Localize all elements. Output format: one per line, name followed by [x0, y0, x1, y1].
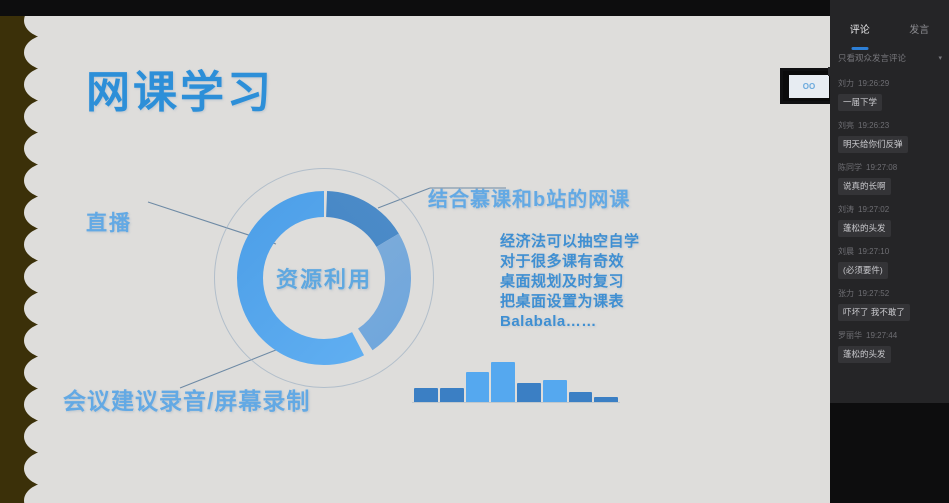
comment-user: 刘力 — [838, 79, 854, 88]
comment-user: 陈同学 — [838, 163, 862, 172]
bar-1 — [414, 388, 438, 402]
panel-tabs: 评论 发言 — [830, 18, 949, 44]
bar-3 — [466, 372, 490, 402]
comment-item[interactable]: 刘力19:26:29一届下学 — [838, 78, 944, 111]
bar-chart — [414, 356, 618, 402]
bar-5 — [517, 383, 541, 402]
comment-text: 蓬松的头发 — [838, 346, 891, 363]
slide-stage[interactable]: 网课学习 — [0, 16, 830, 503]
comment-user: 刘晨 — [838, 247, 854, 256]
comment-text: 吓坏了 我不敢了 — [838, 304, 910, 321]
panel-filter-label: 只看观众发言评论 — [838, 52, 906, 64]
comment-meta: 刘亮19:26:23 — [838, 120, 944, 131]
body-line-3: 桌面规划及时复习 — [500, 272, 640, 292]
comment-time: 19:27:44 — [866, 331, 897, 340]
bar-chart-axis — [412, 402, 620, 403]
comment-meta: 陈同学19:27:08 — [838, 162, 944, 173]
comment-item[interactable]: 张力19:27:52吓坏了 我不敢了 — [838, 288, 944, 321]
comment-meta: 刘力19:26:29 — [838, 78, 944, 89]
label-record: 会议建议录音/屏幕录制 — [63, 382, 310, 416]
comment-item[interactable]: 罗丽华19:27:44蓬松的头发 — [838, 330, 944, 363]
panel-filter[interactable]: 只看观众发言评论 ▾ — [838, 52, 942, 64]
body-line-4: 把桌面设置为课表 — [500, 292, 640, 312]
body-line-2: 对于很多课有奇效 — [500, 252, 640, 272]
bar-7 — [569, 392, 593, 402]
top-black-bar — [0, 0, 949, 16]
screen-root: 网课学习 — [0, 0, 949, 503]
label-mooc: 结合慕课和b站的网课 — [428, 183, 630, 212]
bar-2 — [440, 388, 464, 402]
tab-comments[interactable]: 评论 — [830, 18, 890, 44]
comment-list[interactable]: 刘力19:26:29一届下学刘亮19:26:23明天给你们反弹陈同学19:27:… — [838, 78, 944, 396]
comment-time: 19:26:23 — [858, 121, 889, 130]
video-thumbnail-image: OO — [789, 75, 829, 98]
slide-title: 网课学习 — [86, 56, 274, 120]
comment-time: 19:27:52 — [858, 289, 889, 298]
slide-scalloped-edge — [24, 16, 84, 503]
comment-time: 19:27:08 — [866, 163, 897, 172]
bar-4 — [491, 362, 515, 402]
comment-text: 蓬松的头发 — [838, 220, 891, 237]
comment-time: 19:27:10 — [858, 247, 889, 256]
comment-meta: 刘涛19:27:02 — [838, 204, 944, 215]
comment-meta: 罗丽华19:27:44 — [838, 330, 944, 341]
comment-user: 张力 — [838, 289, 854, 298]
comment-item[interactable]: 刘亮19:26:23明天给你们反弹 — [838, 120, 944, 153]
comment-user: 刘涛 — [838, 205, 854, 214]
body-line-1: 经济法可以抽空自学 — [500, 232, 640, 252]
tab-speak[interactable]: 发言 — [890, 18, 949, 44]
body-line-5: Balabala…… — [500, 312, 640, 332]
comment-item[interactable]: 刘晨19:27:10(必须要件) — [838, 246, 944, 279]
comment-item[interactable]: 刘涛19:27:02蓬松的头发 — [838, 204, 944, 237]
comment-user: 罗丽华 — [838, 331, 862, 340]
label-live: 直播 — [86, 207, 132, 237]
comment-meta: 刘晨19:27:10 — [838, 246, 944, 257]
comment-user: 刘亮 — [838, 121, 854, 130]
comment-time: 19:27:02 — [858, 205, 889, 214]
comment-text: 一届下学 — [838, 94, 882, 111]
donut-chart: 资源利用 — [228, 182, 420, 374]
chevron-down-icon: ▾ — [938, 54, 942, 62]
comment-time: 19:26:29 — [858, 79, 889, 88]
comment-text: 明天给你们反弹 — [838, 136, 908, 153]
donut-center-label: 资源利用 — [228, 182, 420, 374]
comment-text: (必须要件) — [838, 262, 888, 279]
bar-6 — [543, 380, 567, 402]
bar-8 — [594, 397, 618, 402]
comment-text: 说真的长啊 — [838, 178, 891, 195]
comment-item[interactable]: 陈同学19:27:08说真的长啊 — [838, 162, 944, 195]
comment-meta: 张力19:27:52 — [838, 288, 944, 299]
panel-bottom-area — [830, 403, 949, 503]
slide-body-text: 经济法可以抽空自学 对于很多课有奇效 桌面规划及时复习 把桌面设置为课表 Bal… — [500, 232, 640, 332]
